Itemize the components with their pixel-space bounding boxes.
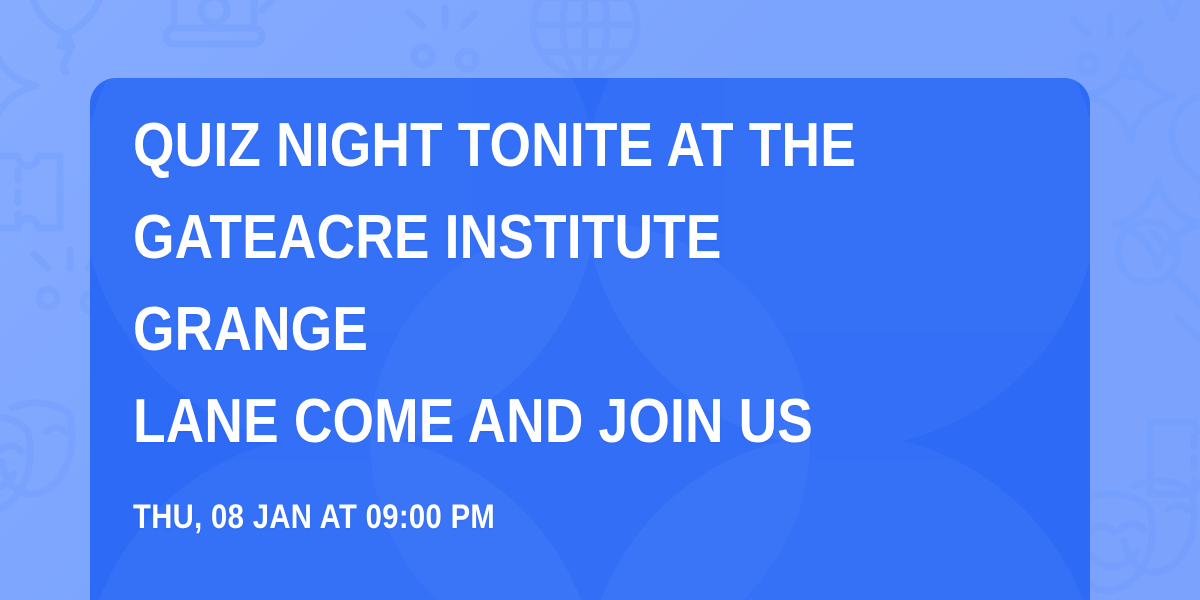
event-title: QUIZ NIGHT TONITE AT THE GATEACRE INSTIT…: [133, 100, 922, 468]
poster-canvas: QUIZ NIGHT TONITE AT THE GATEACRE INSTIT…: [0, 0, 1200, 600]
card-content: QUIZ NIGHT TONITE AT THE GATEACRE INSTIT…: [133, 100, 1050, 536]
event-card: QUIZ NIGHT TONITE AT THE GATEACRE INSTIT…: [90, 78, 1090, 600]
event-date: THU, 08 JAN AT 09:00 PM: [133, 468, 922, 536]
